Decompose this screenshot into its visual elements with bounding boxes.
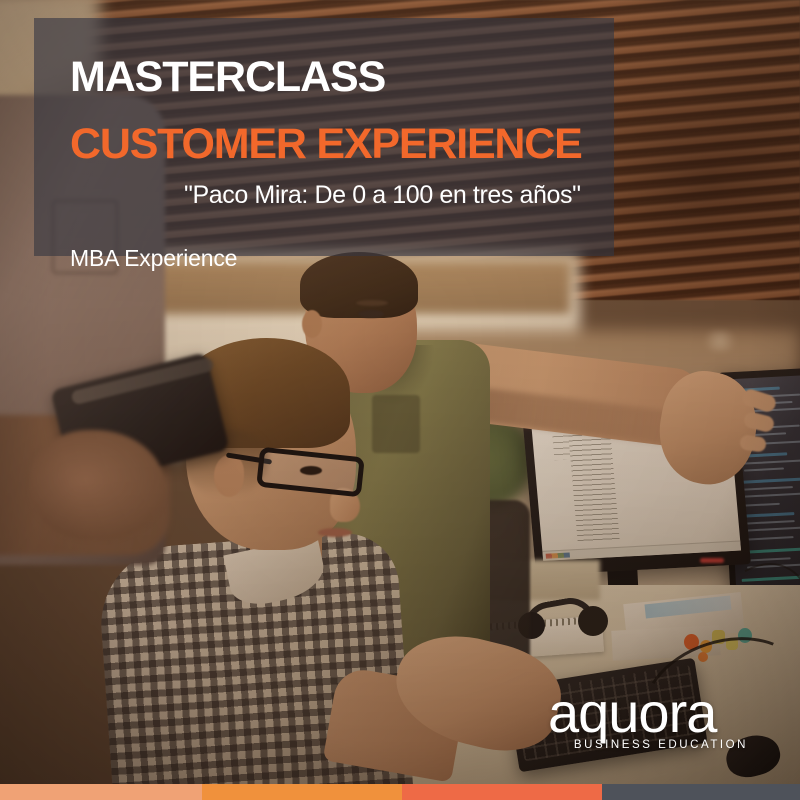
- color-bar-segment-slate: [602, 784, 800, 800]
- color-bar-segment-red-orange: [402, 784, 601, 800]
- page-title: MASTERCLASS: [70, 56, 596, 99]
- page-subtitle: CUSTOMER EXPERIENCE: [70, 123, 596, 166]
- brand-logo: aquora BUSINESS EDUCATION: [548, 688, 752, 752]
- program-label: MBA Experience: [70, 247, 596, 270]
- logo-tagline: BUSINESS EDUCATION: [548, 739, 752, 751]
- speaker-quote: "Paco Mira: De 0 a 100 en tres años": [184, 183, 596, 208]
- poster-canvas: MASTERCLASS CUSTOMER EXPERIENCE "Paco Mi…: [0, 0, 800, 800]
- color-bar-segment-peach: [0, 784, 202, 800]
- bottom-color-bar: [0, 784, 800, 800]
- logo-wordmark: aquora: [548, 688, 752, 738]
- header-overlay-panel: MASTERCLASS CUSTOMER EXPERIENCE "Paco Mi…: [34, 18, 614, 256]
- color-bar-segment-orange: [202, 784, 403, 800]
